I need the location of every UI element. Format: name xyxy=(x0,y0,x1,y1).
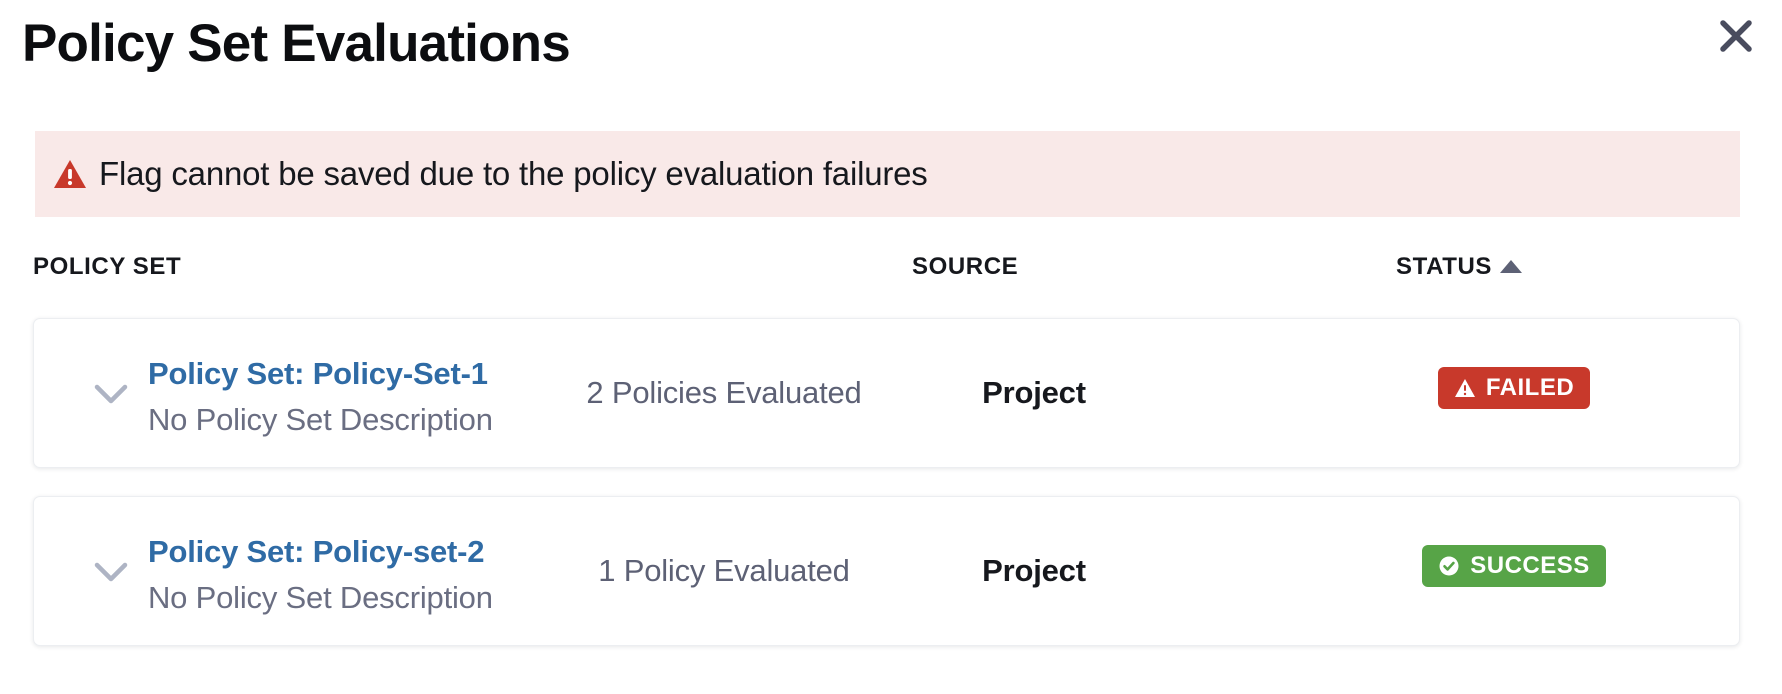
status-cell: FAILED xyxy=(1374,367,1654,409)
warning-triangle-icon xyxy=(53,157,87,191)
table-row[interactable]: Policy Set: Policy-Set-1 No Policy Set D… xyxy=(33,318,1740,468)
policy-failure-alert: Flag cannot be saved due to the policy e… xyxy=(35,131,1740,217)
policy-set-list: Policy Set: Policy-Set-1 No Policy Set D… xyxy=(0,318,1782,674)
chevron-down-icon[interactable] xyxy=(89,552,133,592)
modal-header: Policy Set Evaluations xyxy=(0,0,1782,96)
status-cell: SUCCESS xyxy=(1374,545,1654,587)
table-header-row: POLICY SET SOURCE STATUS xyxy=(0,248,1782,296)
policy-set-link[interactable]: Policy Set: Policy-set-2 xyxy=(148,529,548,575)
source-cell: Project xyxy=(914,551,1154,591)
warning-triangle-icon xyxy=(1454,377,1476,399)
policies-evaluated-count: 2 Policies Evaluated xyxy=(554,373,894,413)
status-badge[interactable]: FAILED xyxy=(1438,367,1590,409)
policy-set-link[interactable]: Policy Set: Policy-Set-1 xyxy=(148,351,548,397)
close-button[interactable] xyxy=(1710,10,1762,62)
policy-set-cell: Policy Set: Policy-Set-1 No Policy Set D… xyxy=(148,351,548,443)
alert-message: Flag cannot be saved due to the policy e… xyxy=(99,154,928,194)
close-icon xyxy=(1718,18,1754,54)
column-header-source: SOURCE xyxy=(912,252,1018,282)
policy-set-description: No Policy Set Description xyxy=(148,575,548,621)
policy-set-cell: Policy Set: Policy-set-2 No Policy Set D… xyxy=(148,529,548,621)
policy-set-description: No Policy Set Description xyxy=(148,397,548,443)
status-badge[interactable]: SUCCESS xyxy=(1422,545,1606,587)
page-title: Policy Set Evaluations xyxy=(22,12,570,76)
check-circle-icon xyxy=(1438,555,1460,577)
source-cell: Project xyxy=(914,373,1154,413)
status-badge-label: FAILED xyxy=(1486,376,1574,400)
column-header-status[interactable]: STATUS xyxy=(1396,252,1492,282)
table-row[interactable]: Policy Set: Policy-set-2 No Policy Set D… xyxy=(33,496,1740,646)
triangle-up-icon[interactable] xyxy=(1500,260,1522,273)
policies-evaluated-count: 1 Policy Evaluated xyxy=(554,551,894,591)
column-header-policy-set: POLICY SET xyxy=(33,252,181,282)
chevron-down-icon[interactable] xyxy=(89,374,133,414)
status-badge-label: SUCCESS xyxy=(1470,554,1590,578)
